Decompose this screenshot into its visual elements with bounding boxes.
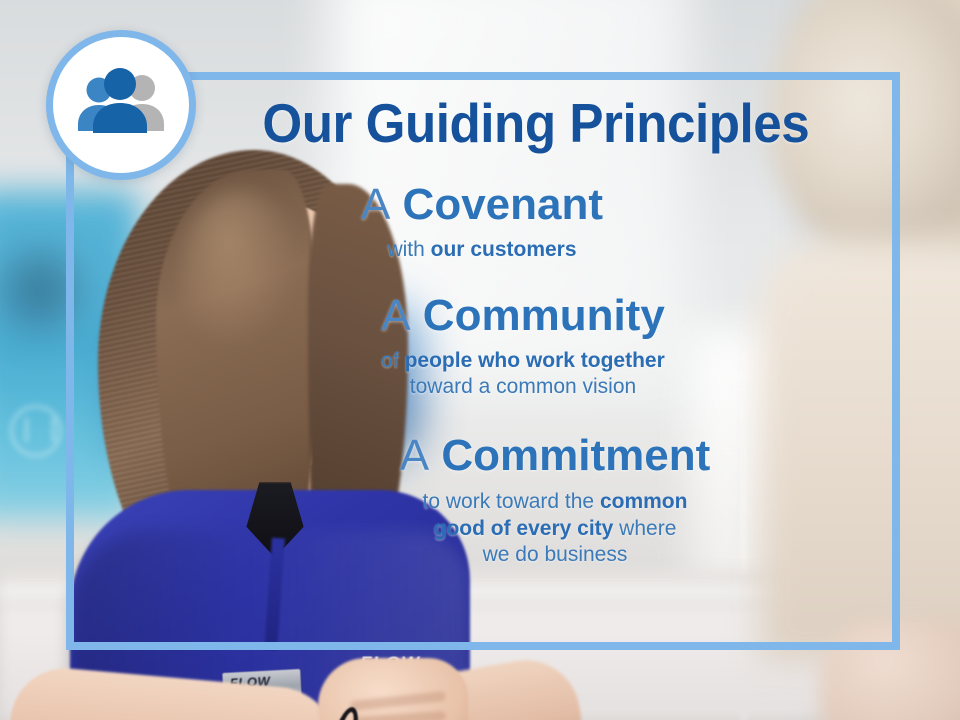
subtext-plain: toward a common vision xyxy=(410,375,636,398)
principles-list: A Covenant with our customers A Communit… xyxy=(80,182,880,585)
foreground-person-hand xyxy=(820,620,960,720)
principle-title: A Covenant xyxy=(84,182,880,229)
subtext-bold: our customers xyxy=(431,238,577,261)
subject-clasped-hands xyxy=(318,658,468,720)
principle-subtext: of people who work together toward a com… xyxy=(166,348,880,401)
principle-keyword: Covenant xyxy=(403,180,603,229)
subtext-bold: people who work together xyxy=(405,349,665,372)
subtext-bold: common xyxy=(600,490,688,513)
principle-subtext: with our customers xyxy=(84,237,880,263)
subtext-plain: where xyxy=(613,517,676,540)
poster-canvas: FLOW FLOW Automotive Our Guiding Princip… xyxy=(0,0,960,720)
subtext-plain: to work toward the xyxy=(423,490,600,513)
subtext-plain: with xyxy=(387,238,430,261)
page-title: Our Guiding Principles xyxy=(34,96,927,151)
principle-article: A xyxy=(381,291,410,340)
principle-article: A xyxy=(361,180,390,229)
subtext-plain: of xyxy=(381,349,404,372)
principle-keyword: Community xyxy=(423,291,665,340)
principle-keyword: Commitment xyxy=(441,431,710,480)
principle-title: A Community xyxy=(166,293,880,340)
principle-community: A Community of people who work together … xyxy=(166,293,880,401)
principle-article: A xyxy=(400,431,429,480)
bg-vw-logo-icon xyxy=(10,405,62,457)
subtext-bold: good of every city xyxy=(434,517,614,540)
principle-covenant: A Covenant with our customers xyxy=(84,182,880,263)
subtext-plain: we do business xyxy=(483,543,628,566)
principle-subtext: to work toward the common good of every … xyxy=(230,489,880,568)
principle-commitment: A Commitment to work toward the common g… xyxy=(230,433,880,569)
principle-title: A Commitment xyxy=(230,433,880,480)
